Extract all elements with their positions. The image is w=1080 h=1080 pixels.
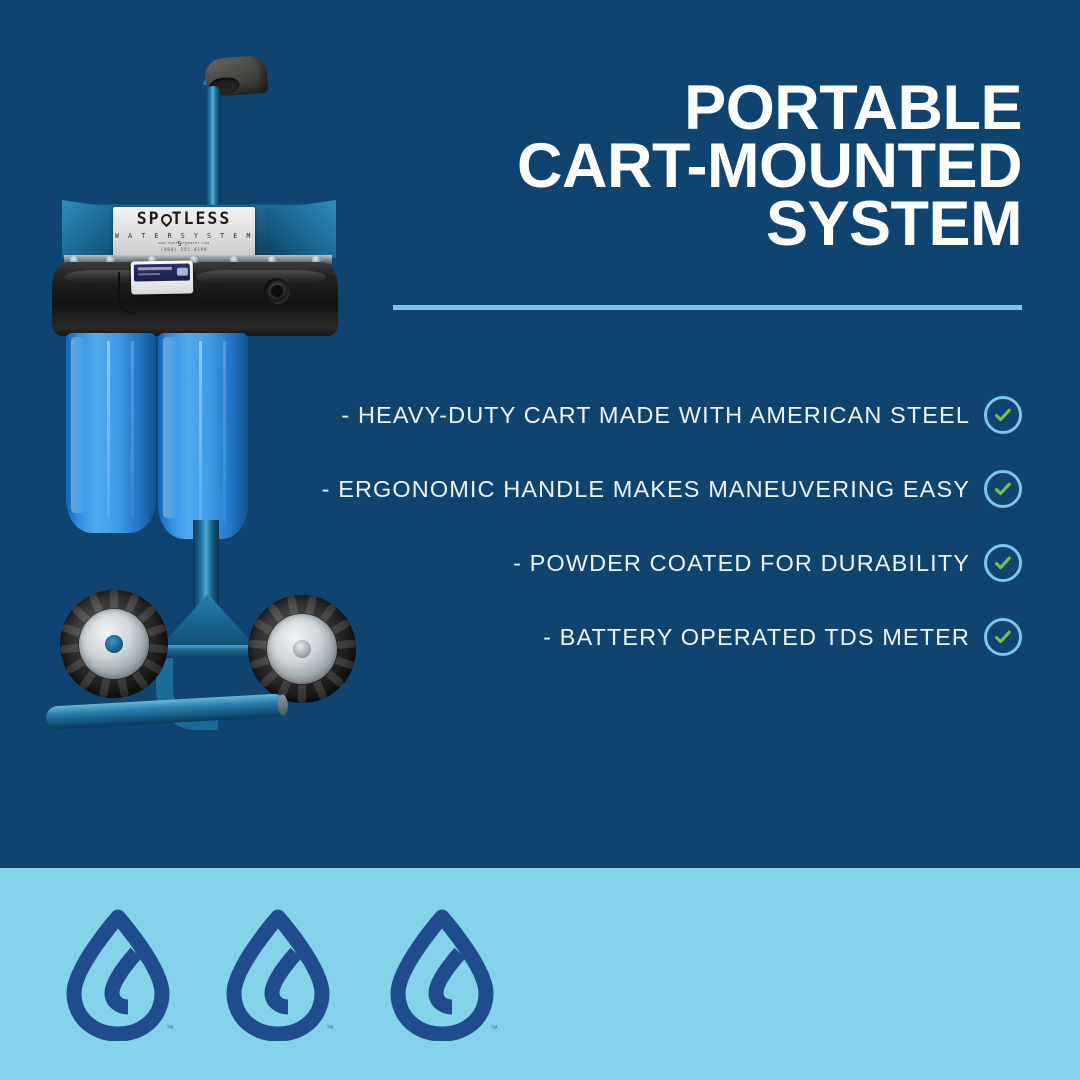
inlet-port bbox=[264, 278, 290, 304]
housing-seam bbox=[131, 341, 134, 517]
tds-meter-button bbox=[177, 268, 188, 276]
feature-dash: - bbox=[513, 550, 522, 576]
brand-subtitle: W A T E R S Y S T E M S. bbox=[113, 232, 255, 248]
feature-dash: - bbox=[322, 476, 331, 502]
footer-logo-row: ™ ™ ™ bbox=[0, 868, 1080, 1080]
title-divider bbox=[393, 305, 1022, 310]
list-item: - POWDER COATED FOR DURABILITY bbox=[322, 526, 1022, 600]
brand-text-before: SP bbox=[137, 209, 161, 228]
housing-highlight bbox=[71, 337, 85, 513]
housing-seam bbox=[223, 341, 226, 522]
brand-url: www.spotlesswater.com bbox=[113, 241, 255, 245]
list-item: - ERGONOMIC HANDLE MAKES MANEUVERING EAS… bbox=[322, 452, 1022, 526]
feature-dash: - bbox=[341, 402, 350, 428]
feature-list: - HEAVY-DUTY CART MADE WITH AMERICAN STE… bbox=[322, 378, 1022, 674]
feature-text: HEAVY-DUTY CART MADE WITH AMERICAN STEEL bbox=[358, 402, 970, 428]
feature-text: ERGONOMIC HANDLE MAKES MANEUVERING EASY bbox=[338, 476, 970, 502]
list-item: - BATTERY OPERATED TDS METER bbox=[322, 600, 1022, 674]
check-circle-icon bbox=[984, 396, 1022, 434]
handle-tube bbox=[206, 86, 220, 216]
feature-text: BATTERY OPERATED TDS METER bbox=[560, 624, 970, 650]
cart-wheel-left bbox=[60, 590, 168, 698]
filter-housing-left bbox=[66, 333, 156, 533]
brand-phone: (800) 555-0199 bbox=[113, 247, 255, 252]
water-drop-logo-icon: ™ bbox=[216, 909, 340, 1041]
trademark-symbol: ™ bbox=[326, 1024, 334, 1033]
trademark-symbol: ™ bbox=[166, 1024, 174, 1033]
page-title-line-1: PORTABLE bbox=[362, 80, 1022, 138]
brand-name: SPTLESS bbox=[113, 211, 255, 228]
housing-seam bbox=[107, 341, 110, 517]
list-item: - HEAVY-DUTY CART MADE WITH AMERICAN STE… bbox=[322, 378, 1022, 452]
feature-label: - BATTERY OPERATED TDS METER bbox=[543, 624, 970, 651]
filter-caps-group bbox=[52, 262, 344, 340]
page-title-line-3: SYSTEM bbox=[362, 196, 1022, 254]
page-title-line-2: CART-MOUNTED bbox=[362, 138, 1022, 196]
brand-logo-plate: SPTLESS W A T E R S Y S T E M S. www.spo… bbox=[113, 207, 255, 256]
trademark-symbol: ™ bbox=[490, 1024, 498, 1033]
wheel-hub bbox=[79, 609, 149, 679]
feature-dash: - bbox=[543, 624, 552, 650]
water-drop-logo-icon: ™ bbox=[56, 909, 180, 1041]
check-circle-icon bbox=[984, 618, 1022, 656]
brand-text-after: TLESS bbox=[172, 209, 232, 228]
feature-label: - POWDER COATED FOR DURABILITY bbox=[513, 550, 970, 577]
feature-label: - HEAVY-DUTY CART MADE WITH AMERICAN STE… bbox=[341, 402, 970, 429]
infographic-canvas: SPTLESS W A T E R S Y S T E M S. www.spo… bbox=[0, 0, 1080, 1080]
filter-housing-right bbox=[158, 333, 248, 539]
filter-cap-right bbox=[184, 262, 338, 336]
check-circle-icon bbox=[984, 544, 1022, 582]
tds-meter bbox=[131, 260, 194, 294]
feature-text: POWDER COATED FOR DURABILITY bbox=[530, 550, 970, 576]
page-title: PORTABLE CART-MOUNTED SYSTEM bbox=[362, 80, 1022, 254]
housing-highlight bbox=[163, 337, 177, 518]
feature-label: - ERGONOMIC HANDLE MAKES MANEUVERING EAS… bbox=[322, 476, 970, 503]
check-circle-icon bbox=[984, 470, 1022, 508]
housing-seam bbox=[199, 341, 202, 522]
water-drop-logo-icon: ™ bbox=[380, 909, 504, 1041]
